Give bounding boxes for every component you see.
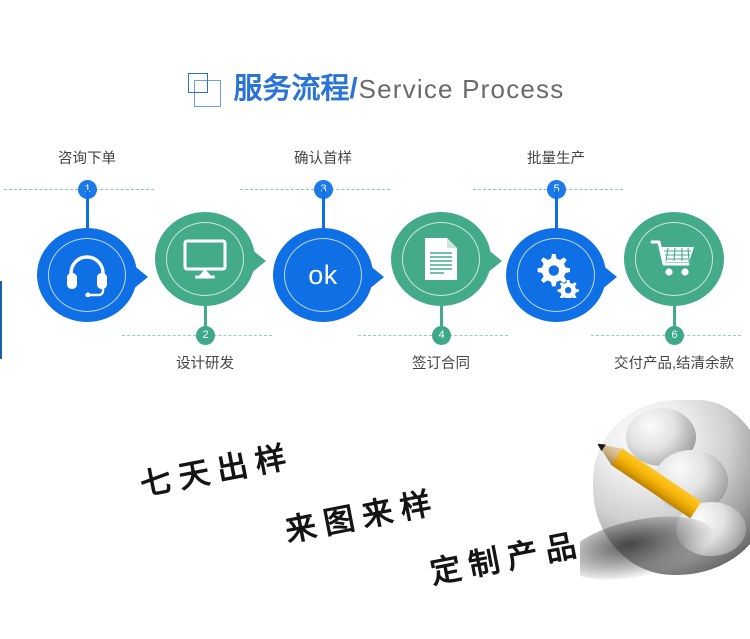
step-badge-2: 2 <box>196 326 215 345</box>
step-bubble-6[interactable] <box>624 212 724 306</box>
process-step-6[interactable]: 6 交付产品,结清余款 <box>615 130 733 390</box>
step-bubble-3[interactable]: ok <box>273 228 373 322</box>
shopping-cart-icon <box>624 212 724 306</box>
process-step-3[interactable]: 确认首样 3 ok <box>264 130 382 390</box>
process-step-5[interactable]: 批量生产 5 <box>497 130 615 390</box>
process-step-2[interactable]: 2 设计研发 <box>146 130 264 390</box>
process-step-4[interactable]: 4 签订合同 <box>382 130 500 390</box>
handwriting-line-3: 定制产品 <box>426 519 588 593</box>
handwriting-line-1: 七天出样 <box>136 431 298 505</box>
overlapping-squares-icon <box>186 70 224 108</box>
step-bubble-2[interactable] <box>155 212 255 306</box>
step-bubble-4[interactable] <box>391 212 491 306</box>
title-separator: / <box>350 75 358 104</box>
step-caption-6: 交付产品,结清余款 <box>554 352 750 373</box>
page-title-cn: 服务流程 <box>234 75 350 104</box>
process-steps: 咨询下单 1 <box>0 130 750 390</box>
step-badge-6: 6 <box>665 326 684 345</box>
step-badge-4: 4 <box>432 326 451 345</box>
hand-holding-pencil-photo <box>580 398 750 598</box>
section-header: 服务流程 / Service Process <box>0 62 750 116</box>
gears-icon <box>506 228 606 322</box>
headset-icon <box>37 228 137 322</box>
ok-text-icon: ok <box>273 228 373 322</box>
document-icon <box>391 212 491 306</box>
step-bubble-5[interactable] <box>506 228 606 322</box>
handwriting-line-2: 来图来样 <box>281 477 443 551</box>
page-title-en: Service Process <box>359 76 565 102</box>
monitor-icon <box>155 212 255 306</box>
step-bubble-1[interactable] <box>37 228 137 322</box>
process-step-1[interactable]: 咨询下单 1 <box>28 130 146 390</box>
